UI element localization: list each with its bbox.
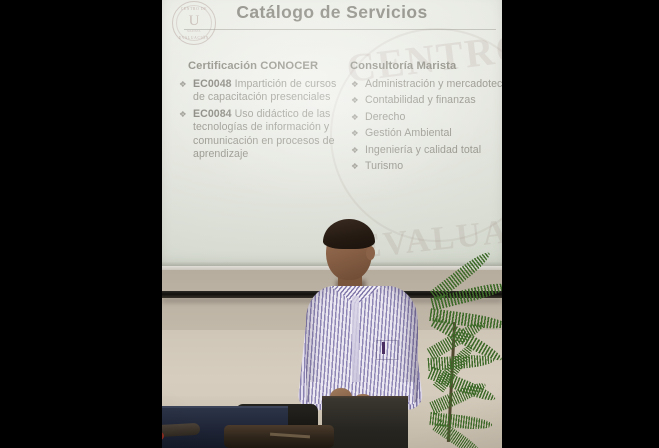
item-text: Gestión Ambiental xyxy=(365,127,452,139)
list-item: ❖ Turismo xyxy=(350,160,502,173)
diamond-bullet-icon: ❖ xyxy=(351,144,359,157)
seal-sub-text: MARISTA xyxy=(173,30,215,33)
slide-title: Catálogo de Servicios xyxy=(162,2,502,23)
diamond-bullet-icon: ❖ xyxy=(351,78,359,91)
item-code: EC0048 xyxy=(193,78,232,90)
presentation-photograph: CENTRO EVALUACIÓN CENTRO DE U MARISTA EV… xyxy=(162,0,502,448)
screenshot-stage: CENTRO EVALUACIÓN CENTRO DE U MARISTA EV… xyxy=(0,0,659,448)
diamond-bullet-icon: ❖ xyxy=(351,94,359,107)
letterbox-bar-right xyxy=(502,0,659,448)
item-text: Turismo xyxy=(365,160,403,172)
rolled-object xyxy=(162,423,200,437)
bullet-list-conocer: ❖ EC0048 Impartición de cursos de capaci… xyxy=(178,78,343,161)
list-item: ❖ Ingeniería y calidad total xyxy=(350,144,502,157)
diamond-bullet-icon: ❖ xyxy=(179,108,187,121)
list-item: ❖ Derecho xyxy=(350,111,502,124)
presenter-hair xyxy=(323,219,375,249)
bag-on-table xyxy=(224,425,334,448)
column-heading-consultoria: Consultoría Marista xyxy=(350,60,502,72)
item-text: Contabilidad y finanzas xyxy=(365,94,476,106)
pen-icon xyxy=(382,342,385,354)
diamond-bullet-icon: ❖ xyxy=(351,160,359,173)
presenter-trousers xyxy=(322,398,408,448)
diamond-bullet-icon: ❖ xyxy=(351,111,359,124)
column-heading-conocer: Certificación CONOCER xyxy=(178,60,343,72)
item-text: Derecho xyxy=(365,111,405,123)
diamond-bullet-icon: ❖ xyxy=(351,127,359,140)
slide-column-left: Certificación CONOCER ❖ EC0048 Impartici… xyxy=(178,60,343,164)
seal-bottom-text: EVALUACIÓN xyxy=(173,36,215,40)
item-text: Administración y mercadotecnia xyxy=(365,78,502,90)
list-item: ❖ EC0048 Impartición de cursos de capaci… xyxy=(178,78,343,105)
list-item: ❖ Contabilidad y finanzas xyxy=(350,94,502,107)
slide-column-right: Consultoría Marista ❖ Administración y m… xyxy=(350,60,502,176)
presenter-ear xyxy=(366,246,375,260)
item-code: EC0084 xyxy=(193,108,232,120)
presenter-person xyxy=(300,222,424,448)
shirt-pocket xyxy=(376,340,398,360)
letterbox-bar-left xyxy=(0,0,162,448)
list-item: ❖ EC0084 Uso didáctico de las tecnología… xyxy=(178,108,343,162)
item-text: Ingeniería y calidad total xyxy=(365,144,481,156)
title-underline xyxy=(184,29,496,30)
list-item: ❖ Gestión Ambiental xyxy=(350,127,502,140)
diamond-bullet-icon: ❖ xyxy=(179,78,187,91)
list-item: ❖ Administración y mercadotecnia xyxy=(350,78,502,91)
bullet-list-consultoria: ❖ Administración y mercadotecnia ❖ Conta… xyxy=(350,78,502,173)
